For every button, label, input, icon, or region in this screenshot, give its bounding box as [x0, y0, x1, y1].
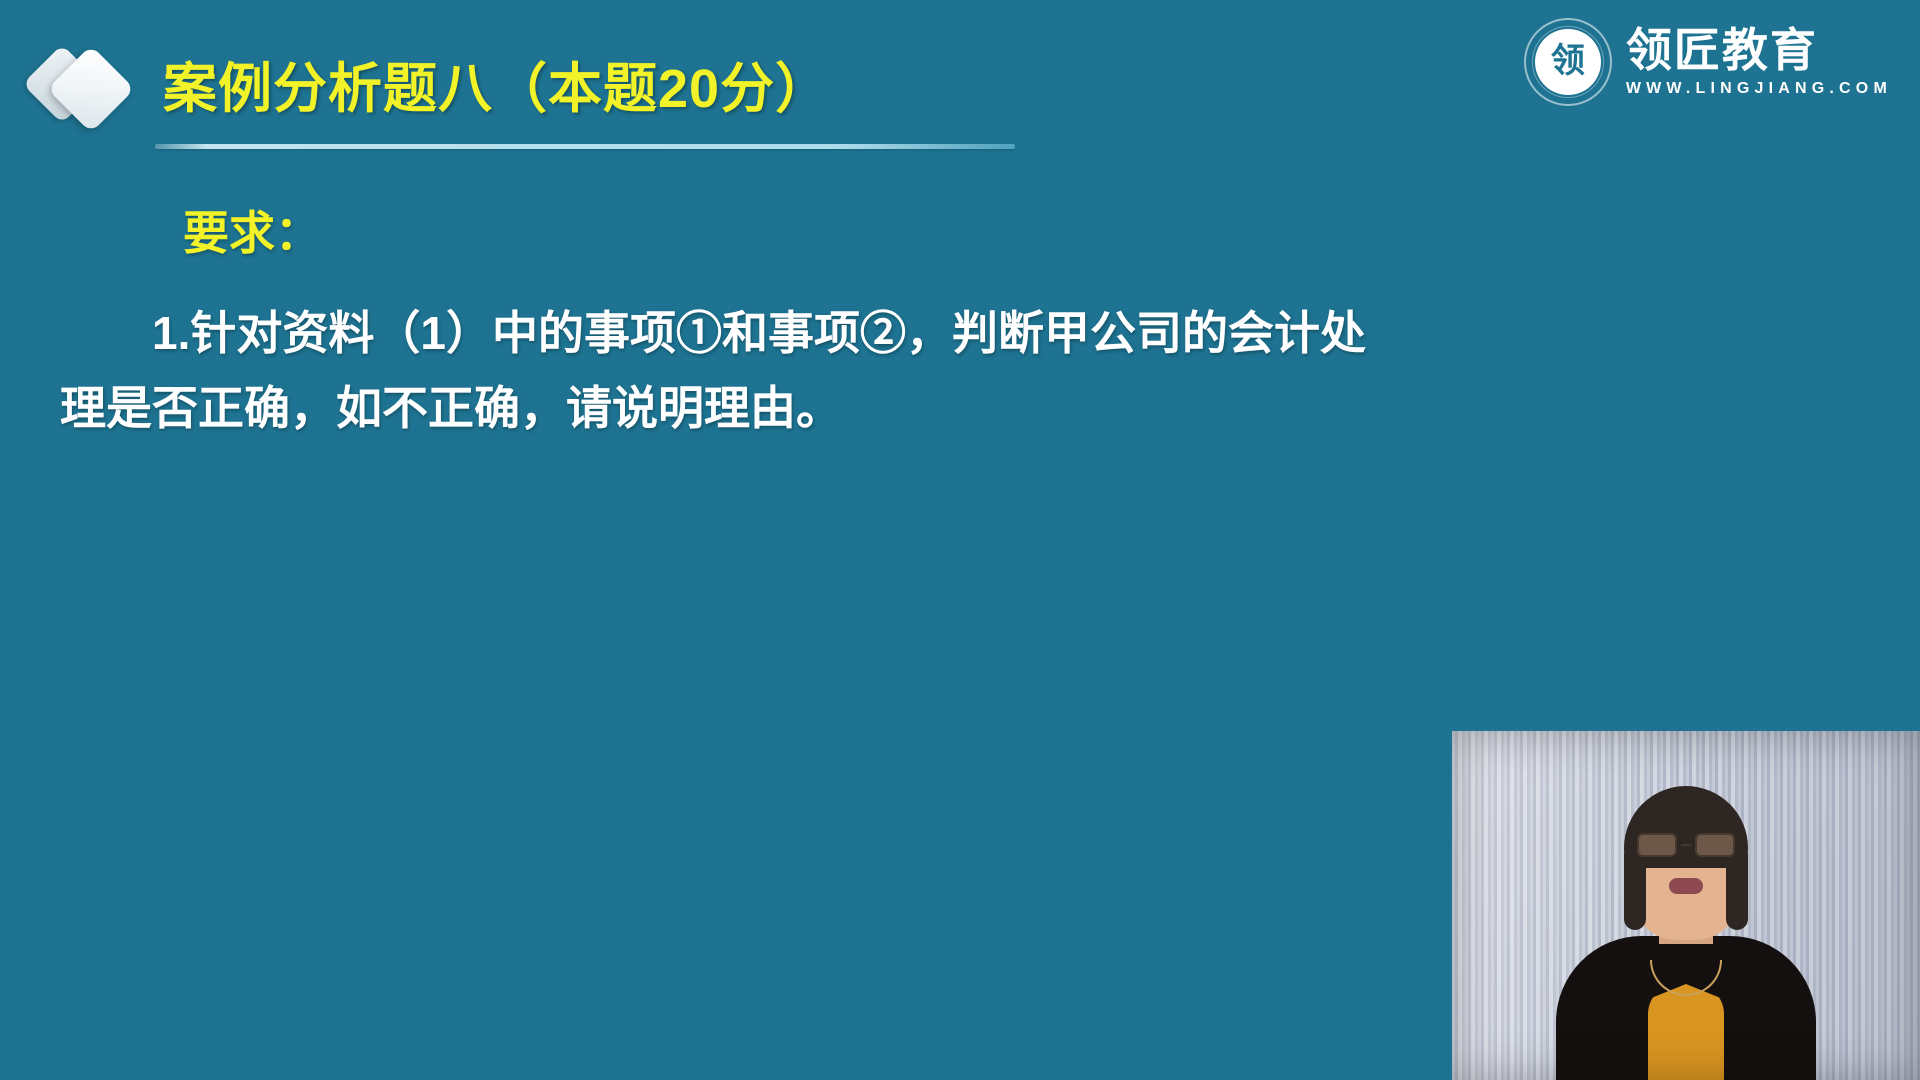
brand-url: WWW.LINGJIANG.COM — [1626, 80, 1892, 98]
brand-logo: 领 领匠教育 WWW.LINGJIANG.COM — [1524, 18, 1892, 106]
requirement-label: 要求： — [183, 210, 1390, 256]
slide-root: 案例分析题八（本题20分） 领 领匠教育 WWW.LINGJIANG.COM 要… — [0, 0, 1920, 1080]
seal-arc-ring — [1532, 26, 1604, 98]
video-vignette — [1452, 731, 1920, 1080]
brand-seal-icon: 领 — [1524, 18, 1612, 106]
brand-text-block: 领匠教育 WWW.LINGJIANG.COM — [1626, 26, 1892, 98]
title-underline-rule — [155, 144, 1015, 149]
page-title: 案例分析题八（本题20分） — [163, 44, 830, 123]
presenter-video-overlay[interactable] — [1452, 731, 1920, 1080]
requirement-paragraph: 1.针对资料（1）中的事项①和事项②，判断甲公司的会计处理是否正确，如不正确，请… — [60, 296, 1390, 445]
slide-body: 要求： 1.针对资料（1）中的事项①和事项②，判断甲公司的会计处理是否正确，如不… — [60, 210, 1390, 445]
diamond-decoration-icon — [30, 42, 140, 132]
brand-name: 领匠教育 — [1626, 26, 1818, 75]
